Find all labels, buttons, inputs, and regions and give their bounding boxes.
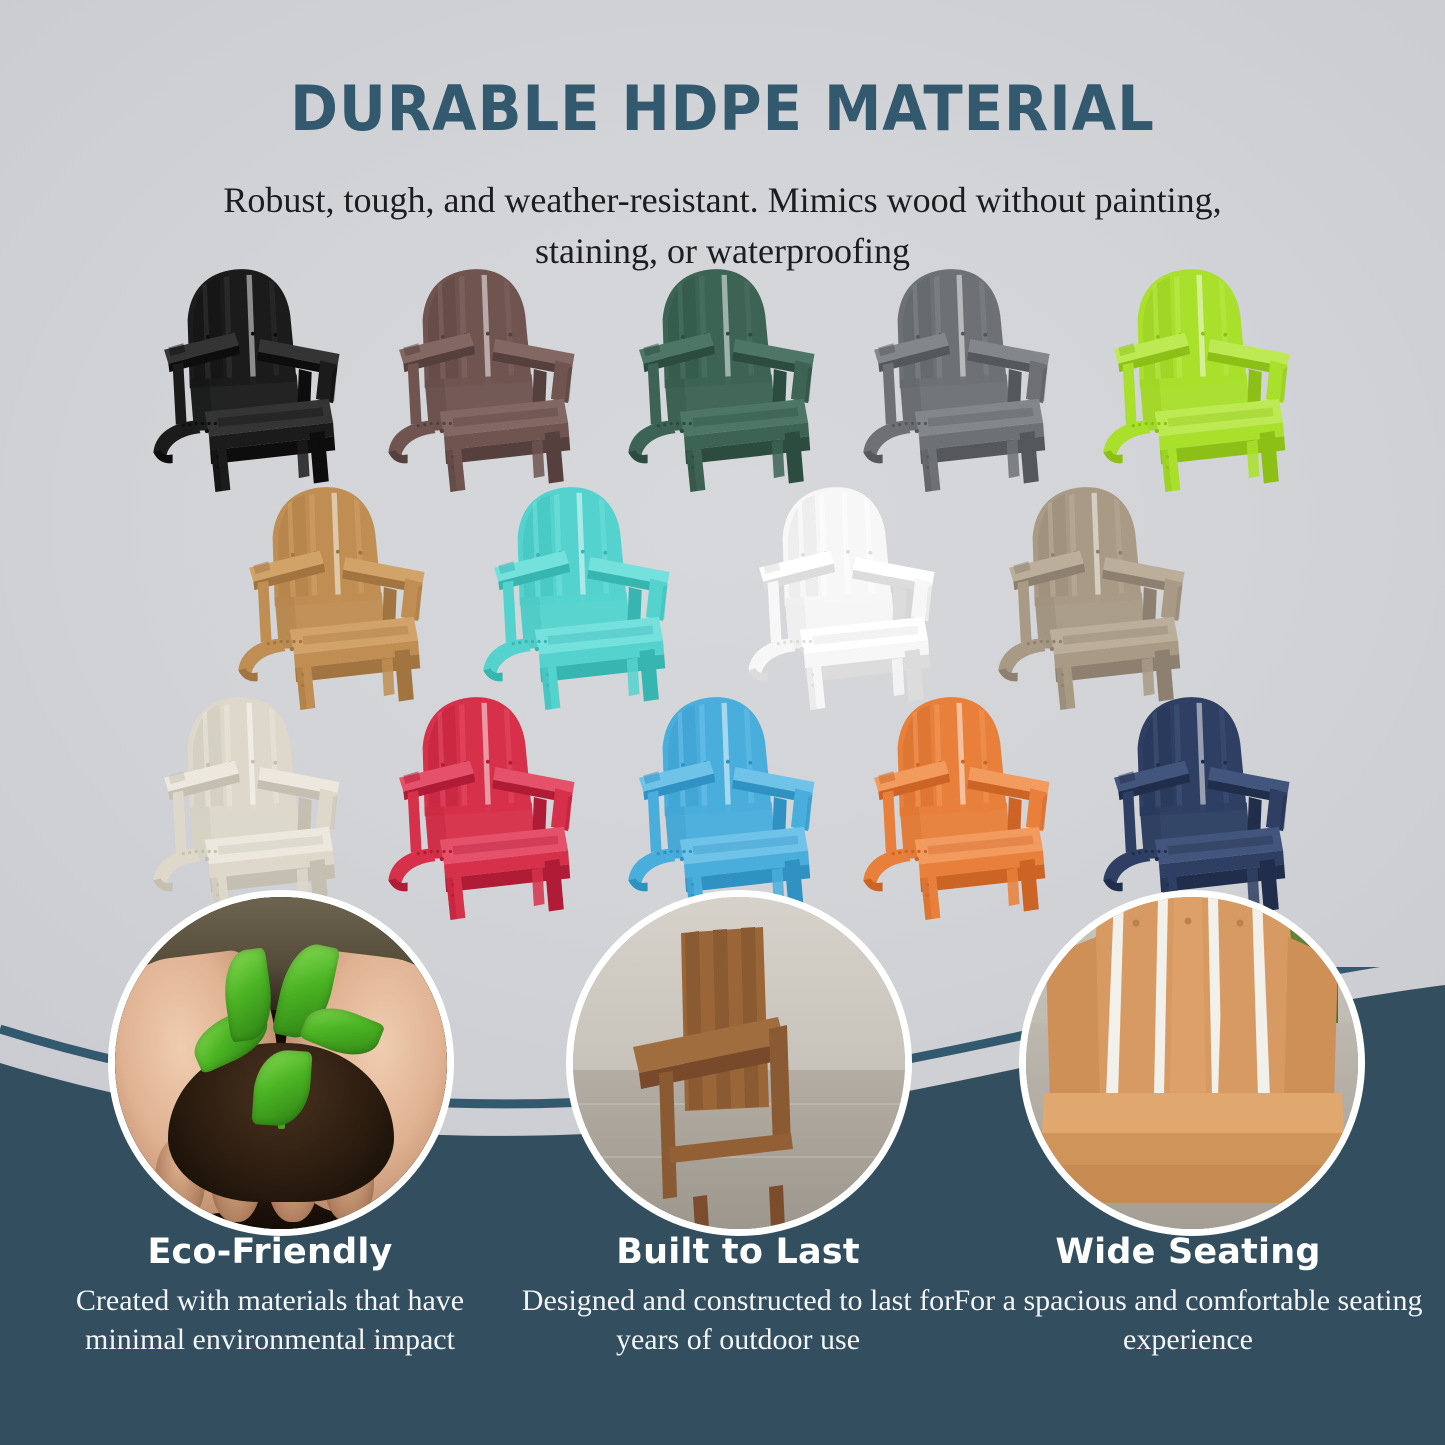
chair-swatch-navy-blue[interactable]: [1090, 690, 1305, 920]
chair-swatch-orange[interactable]: [850, 690, 1065, 920]
chair-swatch-teak[interactable]: [225, 480, 440, 710]
chair-swatch-red[interactable]: [375, 690, 590, 920]
feature-title: Wide Seating: [947, 1232, 1429, 1272]
chair-swatch-white[interactable]: [735, 480, 950, 710]
chair-swatch-dark-green[interactable]: [615, 262, 830, 492]
infographic-stage: DURABLE HDPE MATERIAL Robust, tough, and…: [0, 0, 1445, 1445]
feature-title: Eco-Friendly: [29, 1232, 511, 1272]
feature-caption-built-to-last: Built to Last Designed and constructed t…: [497, 1232, 979, 1359]
photo-brown-chair-patio: [573, 897, 905, 1229]
chair-swatch-taupe[interactable]: [985, 480, 1200, 710]
feature-description: Created with materials that have minimal…: [29, 1281, 511, 1359]
feature-photo-eco-friendly: [115, 897, 447, 1229]
feature-caption-eco-friendly: Eco-Friendly Created with materials that…: [29, 1232, 511, 1359]
chair-color-grid: [0, 262, 1445, 922]
page-title: DURABLE HDPE MATERIAL: [51, 78, 1395, 140]
photo-wide-seat-closeup: [1026, 897, 1358, 1229]
chair-swatch-lime-green[interactable]: [1090, 262, 1305, 492]
chair-swatch-brown[interactable]: [375, 262, 590, 492]
feature-description: For a spacious and comfortable seating e…: [947, 1281, 1429, 1359]
chair-swatch-turquoise[interactable]: [470, 480, 685, 710]
feature-photo-wide-seating: [1026, 897, 1358, 1229]
feature-title: Built to Last: [497, 1232, 979, 1272]
feature-photo-built-to-last: [573, 897, 905, 1229]
chair-swatch-black[interactable]: [140, 262, 355, 492]
feature-caption-wide-seating: Wide Seating For a spacious and comforta…: [947, 1232, 1429, 1359]
chair-swatch-light-blue[interactable]: [615, 690, 830, 920]
feature-description: Designed and constructed to last for yea…: [497, 1281, 979, 1359]
photo-hands-seedling: [115, 897, 447, 1229]
chair-swatch-gray[interactable]: [850, 262, 1065, 492]
chair-swatch-ivory[interactable]: [140, 690, 355, 920]
